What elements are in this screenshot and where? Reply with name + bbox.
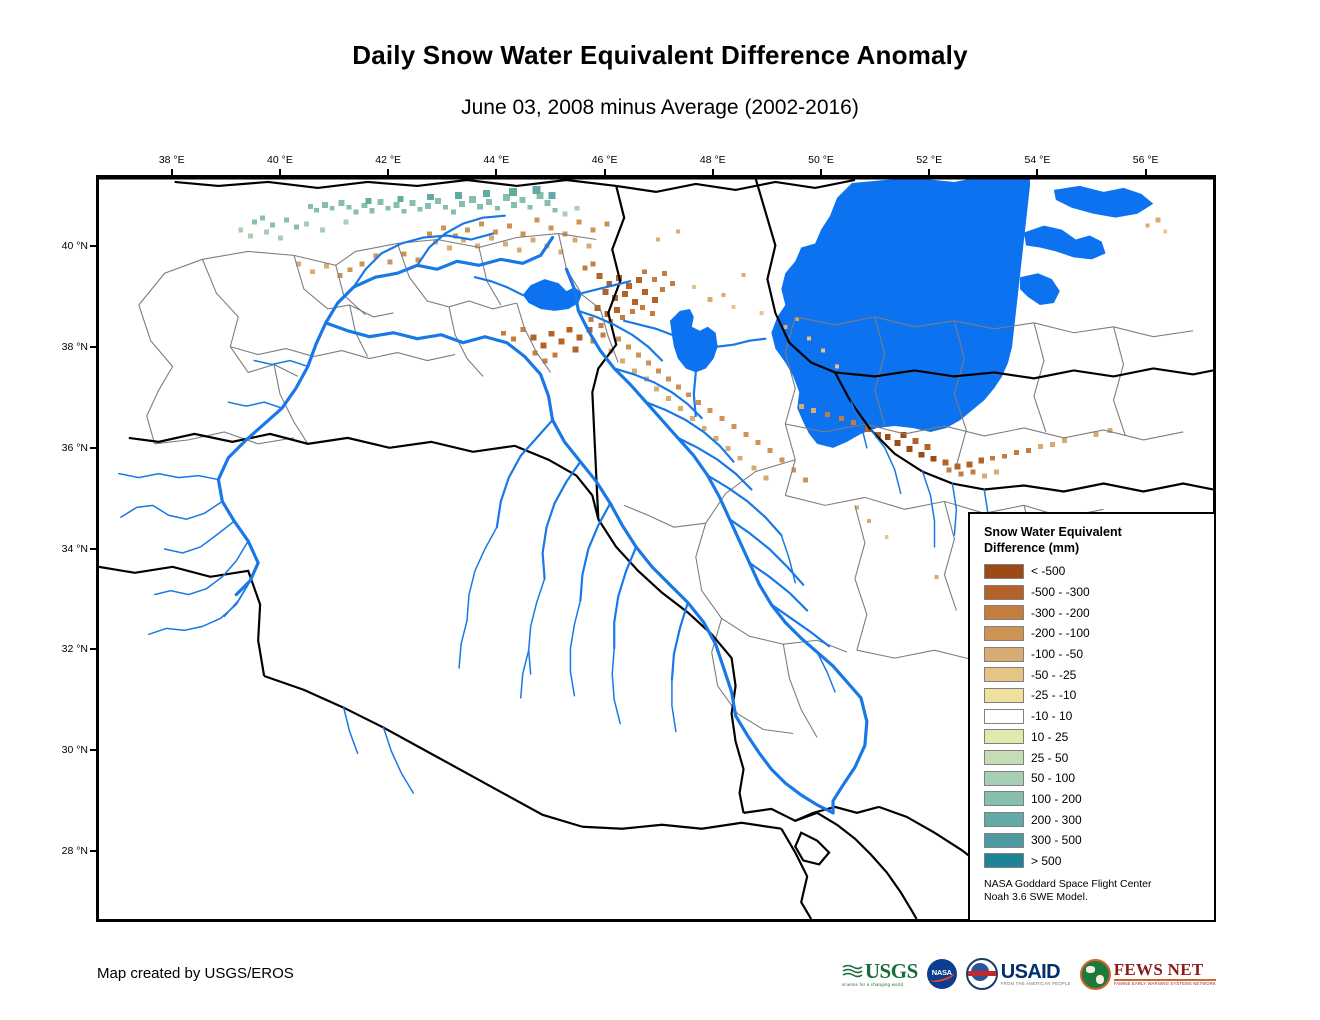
globe-icon bbox=[1080, 959, 1111, 990]
longitude-tick bbox=[387, 169, 389, 176]
legend-label: 25 - 50 bbox=[1031, 751, 1068, 765]
usaid-tagline: FROM THE AMERICAN PEOPLE bbox=[1001, 981, 1071, 986]
longitude-tick bbox=[279, 169, 281, 176]
legend-title-line1: Snow Water Equivalent bbox=[984, 524, 1184, 540]
legend-label: < -500 bbox=[1031, 564, 1065, 578]
usgs-logo: USGS science for a changing world bbox=[842, 957, 918, 991]
longitude-tick bbox=[171, 169, 173, 176]
nasa-logo: NASA bbox=[927, 957, 957, 991]
legend-swatch bbox=[984, 791, 1024, 806]
legend-label: -100 - -50 bbox=[1031, 647, 1083, 661]
legend-row[interactable]: -500 - -300 bbox=[984, 582, 1214, 603]
usgs-logo-top: USGS bbox=[842, 962, 918, 981]
legend-swatch bbox=[984, 729, 1024, 744]
legend-swatch bbox=[984, 853, 1024, 868]
legend-row[interactable]: 50 - 100 bbox=[984, 768, 1214, 789]
usaid-seal-bar bbox=[968, 971, 996, 976]
latitude-tick bbox=[90, 548, 98, 550]
usgs-wordmark: USGS bbox=[865, 962, 918, 981]
legend-row[interactable]: -50 - -25 bbox=[984, 664, 1214, 685]
legend-swatch bbox=[984, 667, 1024, 682]
legend-swatch bbox=[984, 688, 1024, 703]
longitude-tick bbox=[495, 169, 497, 176]
latitude-label: 38 °N bbox=[42, 341, 88, 353]
legend-swatch bbox=[984, 585, 1024, 600]
latitude-label: 36 °N bbox=[42, 442, 88, 454]
legend-class-list: < -500-500 - -300-300 - -200-200 - -100-… bbox=[984, 561, 1214, 871]
latitude-tick bbox=[90, 850, 98, 852]
fewsnet-wordmark: FEWS NET bbox=[1114, 962, 1216, 978]
legend-swatch bbox=[984, 812, 1024, 827]
latitude-label: 32 °N bbox=[42, 643, 88, 655]
usaid-logo: USAID FROM THE AMERICAN PEOPLE bbox=[966, 957, 1071, 991]
legend-label: 200 - 300 bbox=[1031, 813, 1082, 827]
legend-row[interactable]: -10 - 10 bbox=[984, 706, 1214, 727]
longitude-tick bbox=[1145, 169, 1147, 176]
legend-label: -300 - -200 bbox=[1031, 606, 1090, 620]
map-credit: Map created by USGS/EROS bbox=[97, 965, 294, 982]
longitude-tick bbox=[1036, 169, 1038, 176]
longitude-tick bbox=[604, 169, 606, 176]
legend-row[interactable]: 300 - 500 bbox=[984, 830, 1214, 851]
legend-swatch bbox=[984, 771, 1024, 786]
latitude-label: 28 °N bbox=[42, 845, 88, 857]
legend-swatch bbox=[984, 647, 1024, 662]
legend-label: 300 - 500 bbox=[1031, 833, 1082, 847]
nasa-wordmark: NASA bbox=[927, 968, 957, 977]
page-subtitle: June 03, 2008 minus Average (2002-2016) bbox=[0, 96, 1320, 120]
fewsnet-textblock: FEWS NET FAMINE EARLY WARNING SYSTEMS NE… bbox=[1114, 962, 1216, 986]
legend-swatch bbox=[984, 709, 1024, 724]
legend-swatch bbox=[984, 626, 1024, 641]
legend-row[interactable]: 10 - 25 bbox=[984, 727, 1214, 748]
legend-label: -200 - -100 bbox=[1031, 626, 1090, 640]
legend-label: 100 - 200 bbox=[1031, 792, 1082, 806]
legend-source-note: NASA Goddard Space Flight Center Noah 3.… bbox=[984, 878, 1214, 904]
longitude-label: 56 °E bbox=[1133, 154, 1159, 166]
longitude-label: 38 °E bbox=[159, 154, 185, 166]
longitude-tick bbox=[928, 169, 930, 176]
legend-row[interactable]: < -500 bbox=[984, 561, 1214, 582]
legend-label: > 500 bbox=[1031, 854, 1061, 868]
legend-label: -25 - -10 bbox=[1031, 688, 1076, 702]
latitude-label: 30 °N bbox=[42, 744, 88, 756]
longitude-label: 48 °E bbox=[700, 154, 726, 166]
legend-row[interactable]: -300 - -200 bbox=[984, 602, 1214, 623]
latitude-tick bbox=[90, 749, 98, 751]
legend-label: -50 - -25 bbox=[1031, 668, 1076, 682]
legend-row[interactable]: 200 - 300 bbox=[984, 809, 1214, 830]
legend-label: 50 - 100 bbox=[1031, 771, 1075, 785]
legend-title-line2: Difference (mm) bbox=[984, 540, 1184, 556]
legend-row[interactable]: 100 - 200 bbox=[984, 789, 1214, 810]
latitude-label: 40 °N bbox=[42, 240, 88, 252]
longitude-label: 44 °E bbox=[483, 154, 509, 166]
usgs-tagline: science for a changing world bbox=[842, 982, 903, 987]
legend-row[interactable]: -100 - -50 bbox=[984, 644, 1214, 665]
legend-label: 10 - 25 bbox=[1031, 730, 1068, 744]
usaid-seal-icon bbox=[966, 958, 998, 990]
legend-row[interactable]: -25 - -10 bbox=[984, 685, 1214, 706]
longitude-label: 50 °E bbox=[808, 154, 834, 166]
legend-note-line2: Noah 3.6 SWE Model. bbox=[984, 891, 1214, 904]
latitude-label: 34 °N bbox=[42, 543, 88, 555]
nasa-meatball-icon: NASA bbox=[927, 959, 957, 989]
latitude-tick bbox=[90, 648, 98, 650]
legend-swatch bbox=[984, 605, 1024, 620]
usaid-wordmark: USAID bbox=[1001, 963, 1071, 981]
fewsnet-logo: FEWS NET FAMINE EARLY WARNING SYSTEMS NE… bbox=[1080, 957, 1216, 991]
usaid-textblock: USAID FROM THE AMERICAN PEOPLE bbox=[1001, 963, 1071, 986]
legend-row[interactable]: -200 - -100 bbox=[984, 623, 1214, 644]
longitude-label: 40 °E bbox=[267, 154, 293, 166]
latitude-tick bbox=[90, 447, 98, 449]
longitude-label: 54 °E bbox=[1025, 154, 1051, 166]
longitude-label: 46 °E bbox=[592, 154, 618, 166]
legend-row[interactable]: 25 - 50 bbox=[984, 747, 1214, 768]
legend-label: -500 - -300 bbox=[1031, 585, 1090, 599]
legend-panel[interactable]: Snow Water Equivalent Difference (mm) < … bbox=[968, 512, 1216, 922]
usgs-wave-icon bbox=[842, 964, 863, 979]
legend-note-line1: NASA Goddard Space Flight Center bbox=[984, 878, 1214, 891]
legend-swatch bbox=[984, 564, 1024, 579]
page-title: Daily Snow Water Equivalent Difference A… bbox=[0, 40, 1320, 71]
legend-title: Snow Water Equivalent Difference (mm) bbox=[984, 524, 1184, 556]
latitude-tick bbox=[90, 245, 98, 247]
longitude-tick bbox=[712, 169, 714, 176]
legend-label: -10 - 10 bbox=[1031, 709, 1072, 723]
fewsnet-tagline: FAMINE EARLY WARNING SYSTEMS NETWORK bbox=[1114, 981, 1216, 986]
legend-swatch bbox=[984, 750, 1024, 765]
longitude-label: 42 °E bbox=[375, 154, 401, 166]
longitude-label: 52 °E bbox=[916, 154, 942, 166]
legend-row[interactable]: > 500 bbox=[984, 851, 1214, 872]
longitude-tick bbox=[820, 169, 822, 176]
agency-logos: USGS science for a changing world NASA U… bbox=[842, 956, 1216, 992]
latitude-tick bbox=[90, 346, 98, 348]
legend-swatch bbox=[984, 833, 1024, 848]
